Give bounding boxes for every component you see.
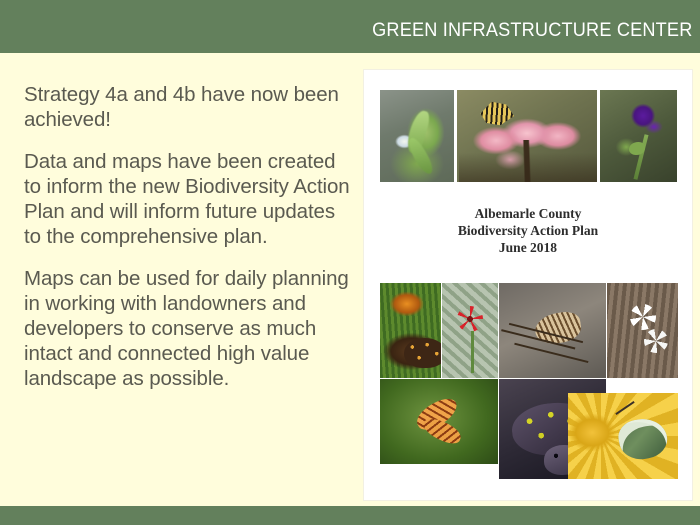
cover-caption-line-1: Albemarle County bbox=[364, 205, 692, 222]
photo-juniper-hairstreak bbox=[568, 393, 678, 479]
body-paragraph-1: Strategy 4a and 4b have now been achieve… bbox=[24, 82, 354, 132]
photo-spring-beauty bbox=[607, 283, 678, 378]
photo-box-turtle bbox=[380, 283, 441, 378]
photo-fire-pink bbox=[442, 283, 498, 378]
body-paragraph-3: Maps can be used for daily planning in w… bbox=[24, 266, 354, 391]
photo-halloween-pennant bbox=[380, 379, 498, 464]
photo-song-sparrow bbox=[499, 283, 606, 378]
cover-caption: Albemarle County Biodiversity Action Pla… bbox=[364, 205, 692, 256]
cover-bottom-photo-grid bbox=[380, 283, 678, 479]
body-paragraph-2: Data and maps have been created to infor… bbox=[24, 149, 354, 249]
footer-band bbox=[0, 506, 700, 525]
photo-azalea-swallowtail bbox=[457, 90, 597, 182]
organization-title: GREEN INFRASTRUCTURE CENTER bbox=[372, 19, 692, 42]
photo-purple-violet bbox=[600, 90, 677, 182]
cover-caption-line-3: June 2018 bbox=[364, 239, 692, 256]
slide-body-text: Strategy 4a and 4b have now been achieve… bbox=[24, 82, 354, 408]
cover-top-photo-strip bbox=[380, 90, 677, 182]
report-cover-card: Albemarle County Biodiversity Action Pla… bbox=[364, 70, 692, 500]
presentation-slide: GREEN INFRASTRUCTURE CENTER Strategy 4a … bbox=[0, 0, 700, 525]
cover-caption-line-2: Biodiversity Action Plan bbox=[364, 222, 692, 239]
photo-white-bellflower bbox=[380, 90, 454, 182]
header-band: GREEN INFRASTRUCTURE CENTER bbox=[0, 0, 700, 53]
